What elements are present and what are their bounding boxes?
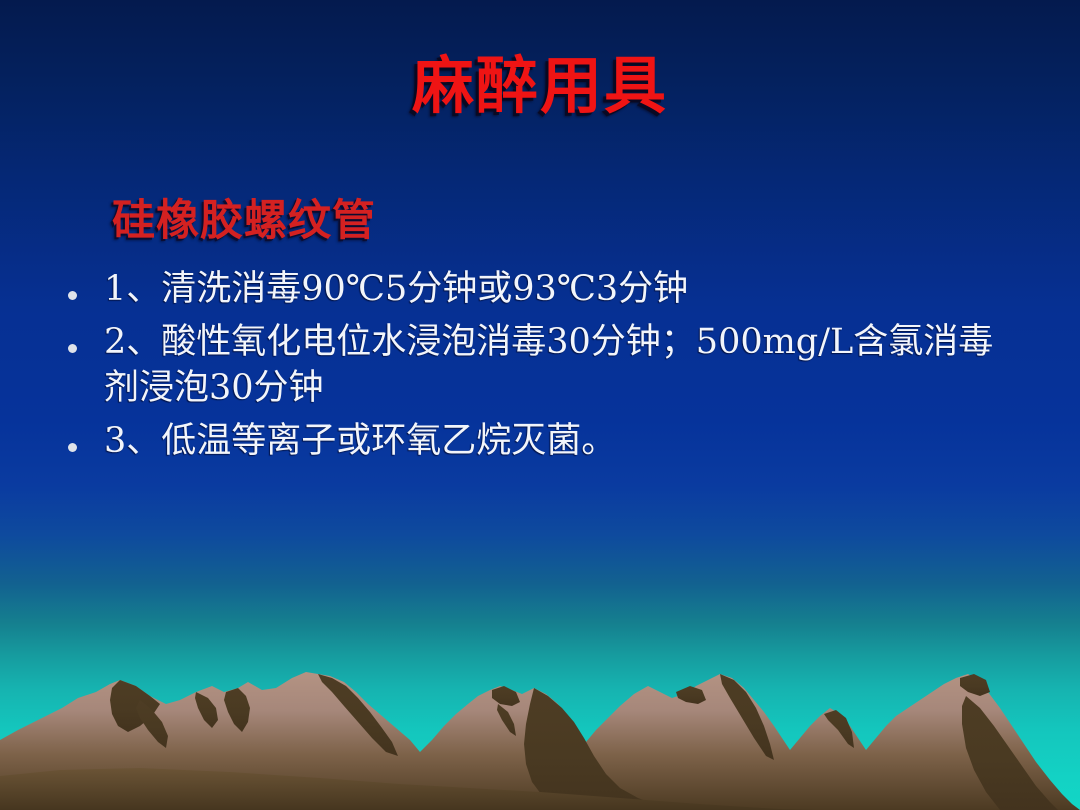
slide-title: 麻醉用具: [0, 52, 1080, 120]
bullet-list: 1、清洗消毒90℃5分钟或93℃3分钟 2、酸性氧化电位水浸泡消毒30分钟；50…: [56, 266, 1036, 470]
bullet-dot-icon: [56, 418, 104, 456]
bullet-dot-icon: [56, 266, 104, 304]
slide-subtitle: 硅橡胶螺纹管: [112, 198, 376, 245]
list-item: 2、酸性氧化电位水浸泡消毒30分钟；500mg/L含氯消毒 剂浸泡30分钟: [56, 319, 1036, 412]
bullet-dot-icon: [56, 319, 104, 357]
list-item-line-wrapped: 剂浸泡30分钟: [104, 365, 1036, 412]
list-item: 1、清洗消毒90℃5分钟或93℃3分钟: [56, 266, 1036, 313]
list-item-line: 2、酸性氧化电位水浸泡消毒30分钟；500mg/L含氯消毒: [104, 322, 993, 362]
presentation-slide: 麻醉用具 硅橡胶螺纹管 1、清洗消毒90℃5分钟或93℃3分钟 2、酸性氧化电位…: [0, 0, 1080, 810]
list-item: 3、低温等离子或环氧乙烷灭菌。: [56, 418, 1036, 465]
list-item-text: 3、低温等离子或环氧乙烷灭菌。: [104, 418, 1036, 465]
list-item-text: 1、清洗消毒90℃5分钟或93℃3分钟: [104, 266, 1036, 313]
list-item-line: 1、清洗消毒90℃5分钟或93℃3分钟: [104, 269, 688, 309]
list-item-line: 3、低温等离子或环氧乙烷灭菌。: [104, 421, 616, 461]
list-item-text: 2、酸性氧化电位水浸泡消毒30分钟；500mg/L含氯消毒 剂浸泡30分钟: [104, 319, 1036, 412]
mountain-landscape-graphic: [0, 580, 1080, 810]
